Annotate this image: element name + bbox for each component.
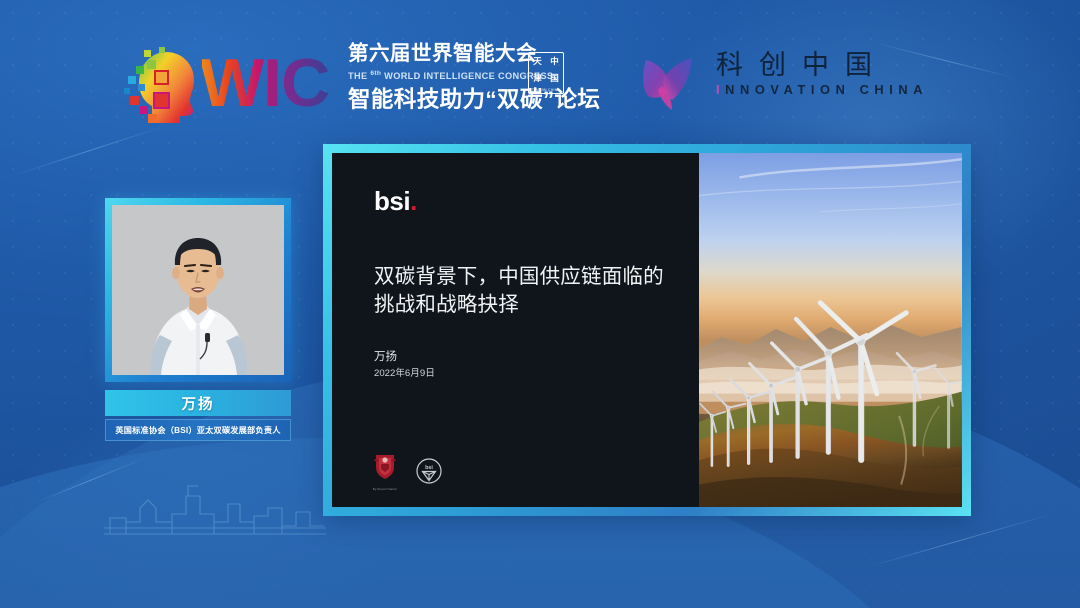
wic-wordmark: WIC (202, 46, 352, 126)
speaker-portrait-illustration (112, 205, 284, 375)
kitemark-label: bsi (425, 465, 433, 471)
royal-charter-crest-icon (370, 451, 400, 481)
slide-frame: bsi. 双碳背景下，中国供应链面临的挑战和战略抉择 万扬 2022年6月9日 (323, 144, 971, 516)
congress-en-ordinal: 6th (370, 70, 381, 77)
slide-content-panel: bsi. 双碳背景下，中国供应链面临的挑战和战略抉择 万扬 2022年6月9日 (332, 153, 699, 507)
slide-author: 万扬 (374, 349, 397, 367)
slide-image-windfarm (699, 153, 962, 507)
innovation-china-logo: 科创中国 INNOVATION CHINA (640, 52, 958, 120)
innovation-china-en: INNOVATION CHINA (716, 84, 960, 97)
bsi-wordmark: bsi (374, 186, 410, 216)
seal-footer-text: TIANJIN CHINA (529, 86, 563, 93)
windfarm-sunset-illustration (699, 153, 962, 507)
speaker-title-bar: 英国标准协会（BSI）亚太双碳发展部负责人 (105, 419, 291, 441)
innovation-en-lead: I (716, 82, 725, 97)
presentation-stage: WIC 第六届世界智能大会 THE 6th WORLD INTELLIGENCE… (0, 0, 1080, 608)
slide-title: 双碳背景下，中国供应链面临的挑战和战略抉择 (374, 263, 679, 320)
innovation-en-rest: NNOVATION CHINA (725, 82, 928, 97)
innovation-china-text: 科创中国 INNOVATION CHINA (716, 52, 960, 116)
speaker-photo (112, 205, 284, 375)
congress-en-pre: THE (348, 71, 370, 81)
tianjin-china-seal: 天 中 津 国 TIANJIN CHINA (528, 52, 564, 94)
wic-logo: WIC (122, 38, 350, 134)
royal-charter-caption: By Royal Charter (370, 487, 400, 491)
event-header: WIC 第六届世界智能大会 THE 6th WORLD INTELLIGENCE… (0, 0, 1080, 150)
city-skyline-watermark (100, 478, 330, 538)
innovation-china-cn: 科创中国 (716, 52, 960, 79)
innovation-china-butterfly-icon (640, 56, 702, 114)
seal-char-3: 津 (529, 70, 546, 87)
seal-char-4: 国 (546, 70, 563, 87)
slide-date: 2022年6月9日 (374, 367, 435, 381)
royal-charter-crest-wrap: By Royal Charter (370, 451, 400, 491)
presentation-slide: bsi. 双碳背景下，中国供应链面临的挑战和战略抉择 万扬 2022年6月9日 (332, 153, 962, 507)
slide-footer-logos: By Royal Charter bsi (370, 451, 442, 491)
speaker-photo-frame (105, 198, 291, 382)
bsi-kitemark-icon: bsi (416, 458, 442, 484)
speaker-title: 英国标准协会（BSI）亚太双碳发展部负责人 (115, 424, 280, 436)
speaker-name: 万扬 (182, 393, 215, 414)
speaker-name-bar: 万扬 (105, 390, 291, 416)
wic-mosaic-head-icon (122, 44, 210, 130)
bsi-logo-dot: . (410, 186, 417, 216)
svg-text:WIC: WIC (202, 46, 329, 121)
seal-char-1: 天 (529, 53, 546, 70)
speaker-card: 万扬 英国标准协会（BSI）亚太双碳发展部负责人 (105, 198, 291, 448)
bsi-logo: bsi. (374, 188, 417, 214)
seal-char-2: 中 (546, 53, 563, 70)
